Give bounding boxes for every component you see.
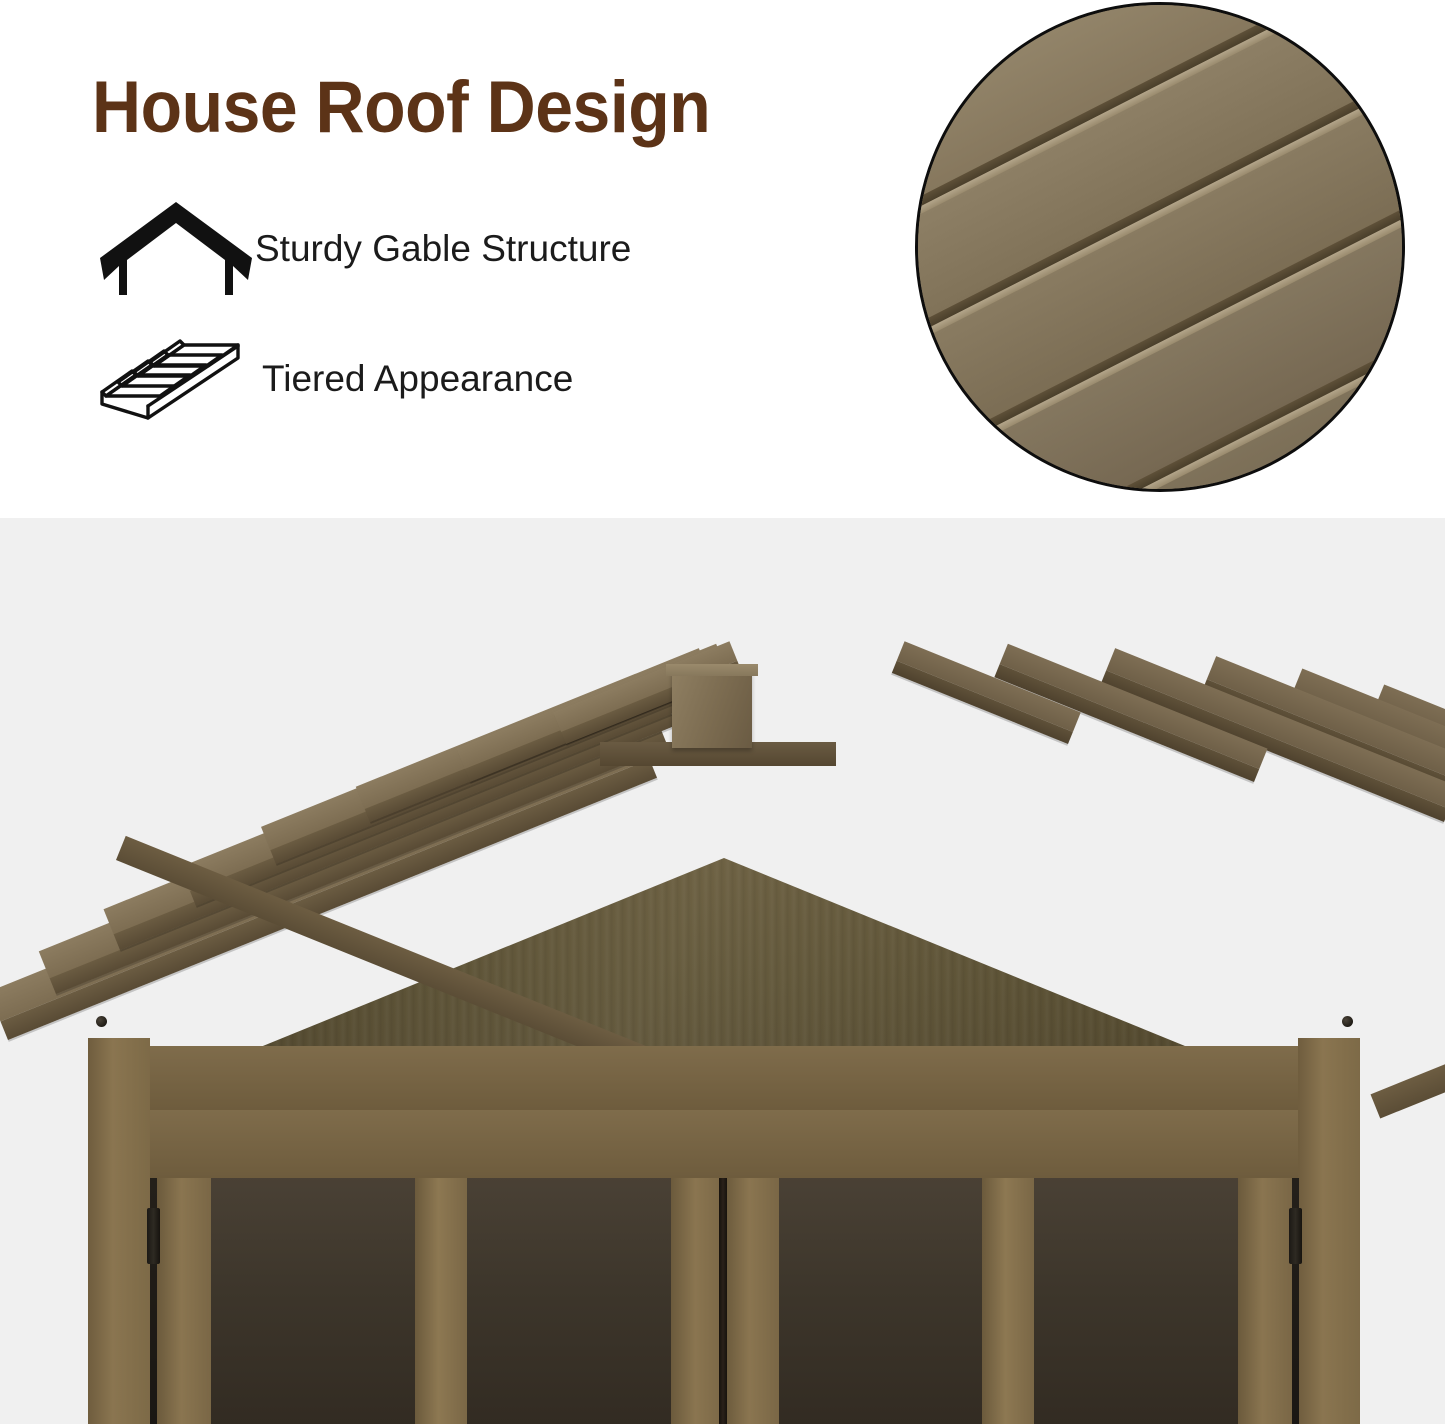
hinge-knuckle-right (1289, 1208, 1302, 1264)
door-mullion (982, 1178, 1034, 1424)
page-title: House Roof Design (92, 66, 710, 149)
feature-label-tiered: Tiered Appearance (262, 360, 573, 397)
door-stile (725, 1178, 779, 1424)
screw-left (96, 1016, 107, 1027)
hinge-knuckle-left (147, 1208, 160, 1264)
door-stile (1238, 1178, 1292, 1424)
door-right (725, 1178, 1293, 1424)
door-stile (671, 1178, 725, 1424)
door-pane (779, 1178, 983, 1424)
corner-post-left (88, 1038, 150, 1424)
roof-plank-stack (915, 2, 1405, 492)
door-pane (467, 1178, 671, 1424)
corner-post-right (1298, 1038, 1360, 1424)
door-mullion (415, 1178, 467, 1424)
door-center-gap (719, 1178, 727, 1424)
door-pane (211, 1178, 415, 1424)
product-photo (0, 518, 1445, 1424)
feature-row-gable: Sturdy Gable Structure (96, 196, 631, 300)
tiered-shingles-icon (90, 330, 250, 426)
feature-label-gable: Sturdy Gable Structure (255, 230, 631, 267)
door-pane (1034, 1178, 1238, 1424)
fascia-board-right (1371, 836, 1445, 1119)
ridge-cap-top (666, 664, 758, 676)
gable-roof-icon (96, 196, 256, 300)
roof-closeup-circle (915, 2, 1405, 492)
feature-row-tiered: Tiered Appearance (90, 330, 573, 426)
door-left (157, 1178, 725, 1424)
screw-right (1342, 1016, 1353, 1027)
rail-upper (150, 1046, 1298, 1112)
rail-lower (150, 1110, 1298, 1180)
ridge-cap-block (672, 670, 752, 748)
info-panel: House Roof Design Sturdy Gable Structure (0, 0, 1445, 518)
door-stile (157, 1178, 211, 1424)
roof-closeup-photo (915, 2, 1405, 492)
